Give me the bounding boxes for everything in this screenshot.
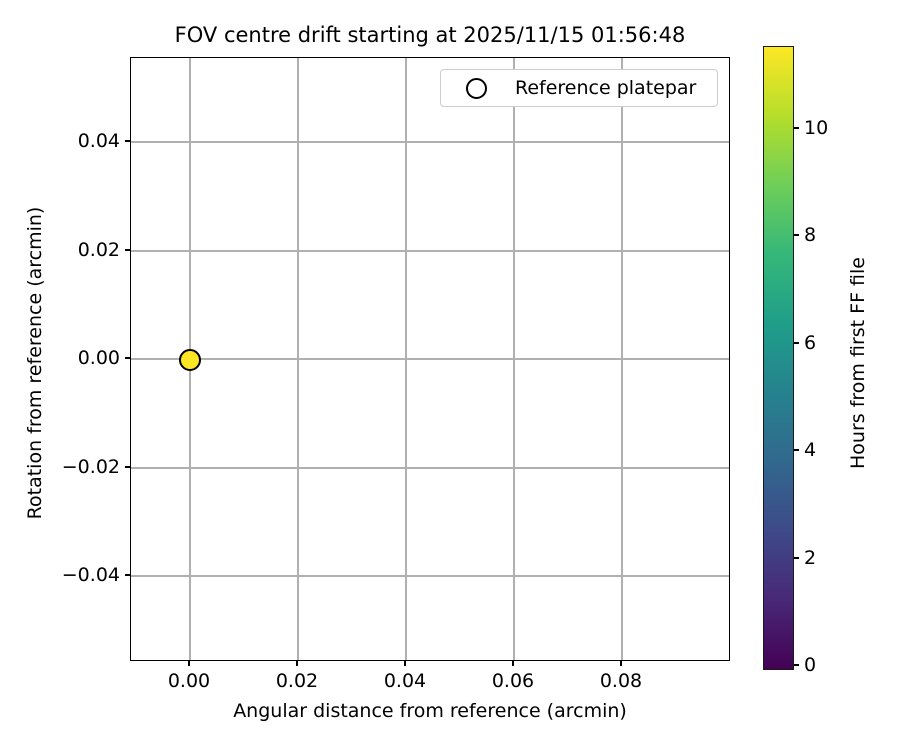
- y-tick-label: 0.04: [78, 130, 120, 152]
- x-tick-label: 0.00: [168, 670, 210, 692]
- data-point-marker: [179, 349, 201, 371]
- x-tick-mark: [296, 661, 298, 666]
- x-tick-mark: [404, 661, 406, 666]
- y-tick-mark: [125, 574, 130, 576]
- colorbar-tick-mark: [794, 449, 799, 451]
- legend-marker-circle-icon: [466, 78, 487, 99]
- y-tick-mark: [125, 249, 130, 251]
- legend-box: Reference platepar: [440, 69, 718, 107]
- colorbar-tick-label: 2: [804, 547, 816, 569]
- x-tick-mark: [512, 661, 514, 666]
- gridline-horizontal: [131, 141, 729, 142]
- colorbar-tick-mark: [794, 664, 799, 666]
- y-tick-label: −0.02: [62, 456, 120, 478]
- x-tick-label: 0.04: [384, 670, 426, 692]
- x-tick-label: 0.08: [600, 670, 642, 692]
- x-tick-label: 0.06: [492, 670, 534, 692]
- plot-area: [131, 58, 729, 660]
- colorbar-tick-label: 10: [804, 117, 828, 139]
- gridline-horizontal: [131, 250, 729, 251]
- y-tick-mark: [125, 140, 130, 142]
- colorbar-gradient: [763, 46, 794, 670]
- gridline-horizontal: [131, 467, 729, 468]
- x-axis-label: Angular distance from reference (arcmin): [130, 700, 730, 722]
- y-tick-mark: [125, 357, 130, 359]
- colorbar-tick-label: 4: [804, 439, 816, 461]
- plot-axes: [130, 57, 730, 661]
- legend-entry-label: Reference platepar: [515, 77, 696, 99]
- x-tick-mark: [188, 661, 190, 666]
- colorbar-tick-mark: [794, 557, 799, 559]
- y-tick-label: −0.04: [62, 564, 120, 586]
- colorbar-label: Hours from first FF file: [847, 51, 869, 675]
- colorbar-tick-mark: [794, 127, 799, 129]
- colorbar-tick-label: 6: [804, 332, 816, 354]
- y-axis-label: Rotation from reference (arcmin): [24, 61, 46, 665]
- y-tick-mark: [125, 466, 130, 468]
- figure-canvas: FOV centre drift starting at 2025/11/15 …: [0, 0, 900, 750]
- x-tick-label: 0.02: [276, 670, 318, 692]
- y-tick-label: 0.02: [78, 239, 120, 261]
- x-tick-mark: [620, 661, 622, 666]
- colorbar-tick-label: 8: [804, 224, 816, 246]
- y-tick-label: 0.00: [78, 347, 120, 369]
- colorbar: [763, 46, 794, 670]
- colorbar-tick-mark: [794, 234, 799, 236]
- gridline-horizontal: [131, 575, 729, 576]
- colorbar-tick-label: 0: [804, 654, 816, 676]
- gridline-horizontal: [131, 358, 729, 359]
- chart-title: FOV centre drift starting at 2025/11/15 …: [130, 25, 730, 46]
- colorbar-tick-mark: [794, 342, 799, 344]
